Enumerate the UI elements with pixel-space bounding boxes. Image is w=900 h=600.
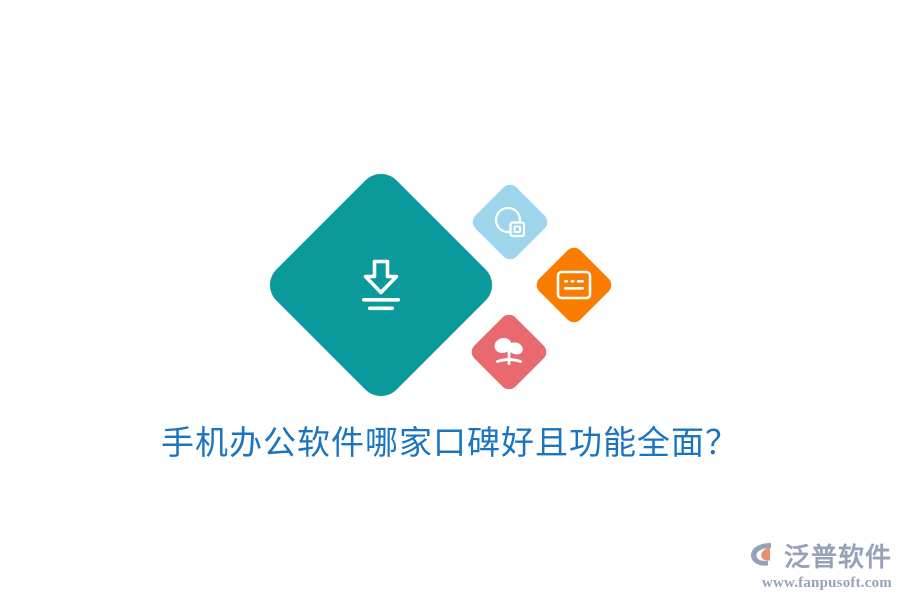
download-icon [296,200,466,370]
diamond-tile-chart[interactable] [481,193,539,251]
page-title: 手机办公软件哪家口碑好且功能全面？ [0,421,900,467]
card-message-icon [545,256,603,314]
watermark-url-text: www.fanpusoft.com [762,574,892,592]
diamond-tile-download[interactable] [296,200,466,370]
fanpu-logo-icon [749,540,779,573]
diamond-tile-card[interactable] [545,256,603,314]
watermark-brand-text: 泛普软件 [784,542,892,572]
page-canvas: 手机办公软件哪家口碑好且功能全面？ 泛普软件 www.fanpusoft.com [0,0,900,600]
watermark-brand-row: 泛普软件 [749,540,892,573]
sprout-icon [480,323,538,381]
diamond-tile-sprout[interactable] [480,323,538,381]
diamond-icon-cluster [0,0,900,430]
watermark: 泛普软件 www.fanpusoft.com [749,540,892,592]
pie-chart-icon [481,193,539,251]
